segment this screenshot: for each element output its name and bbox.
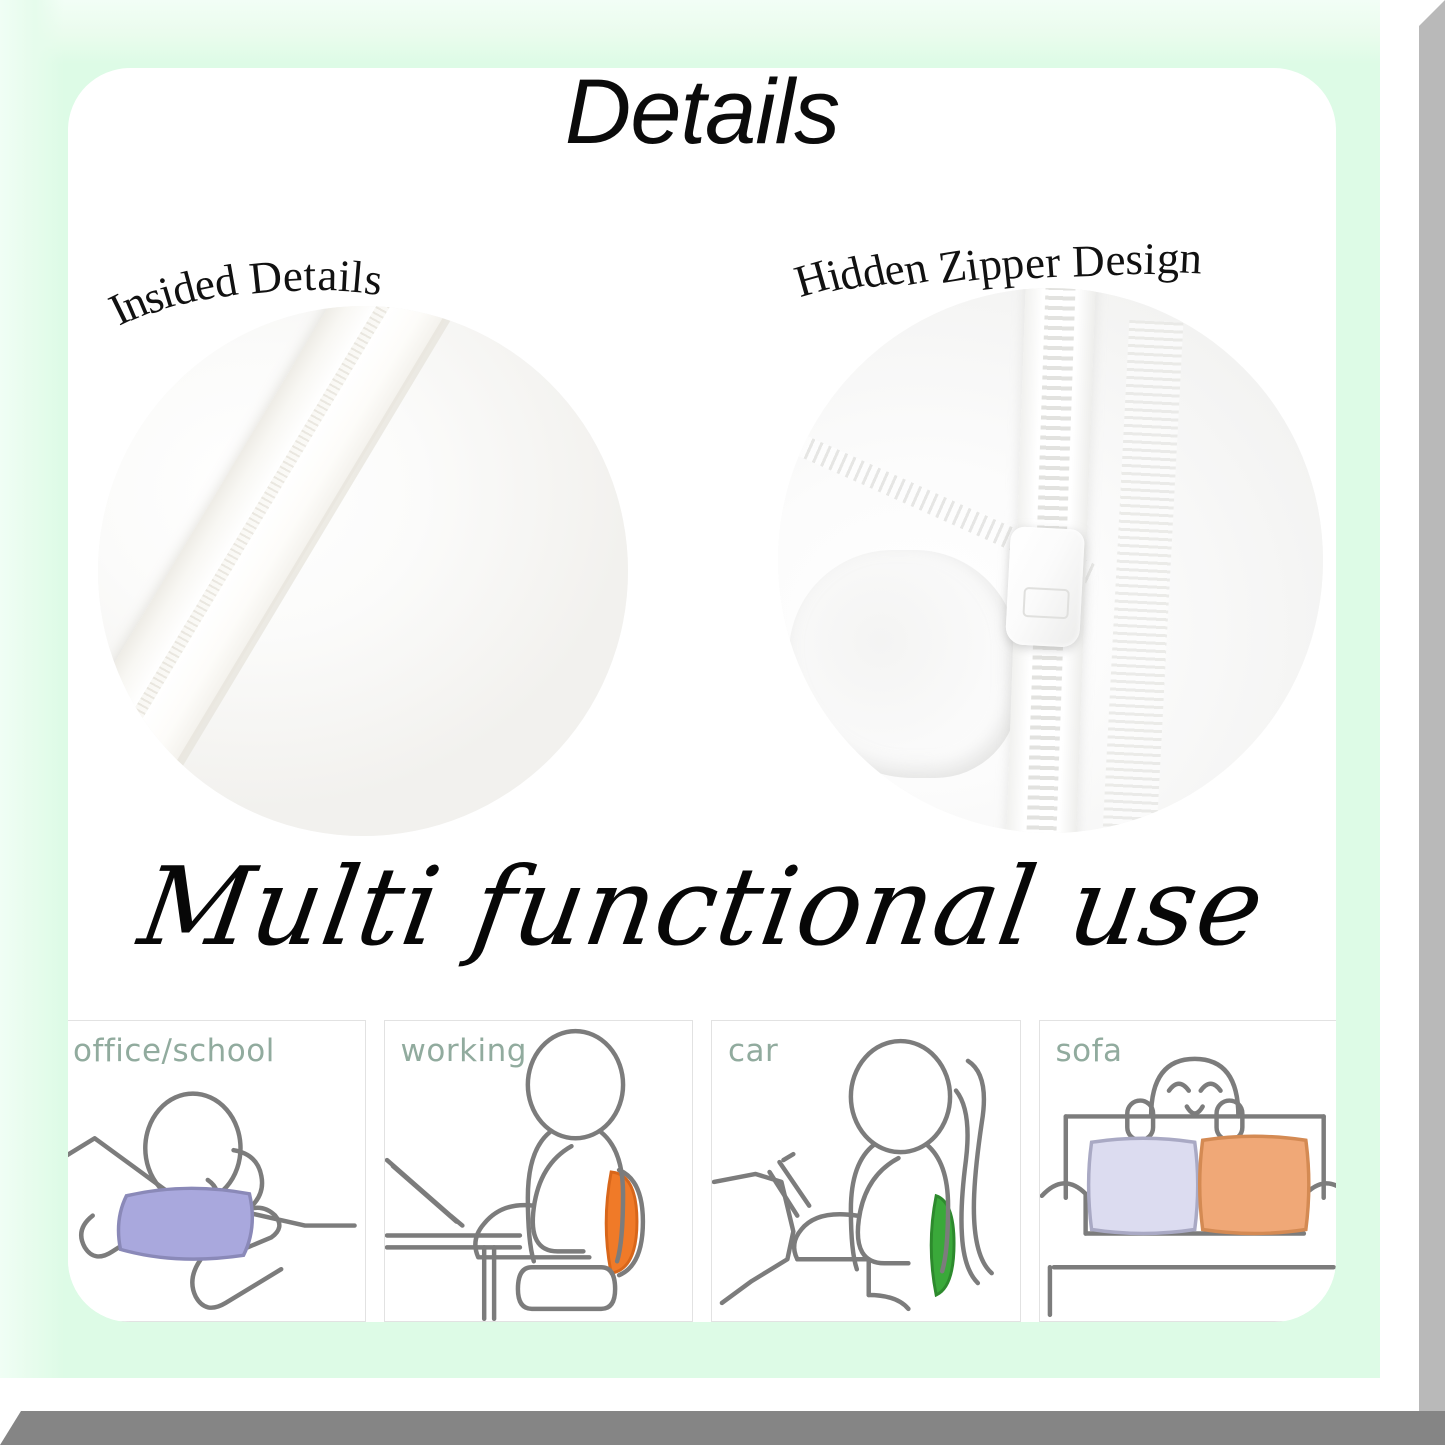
headline-multi-functional-use: Multi functional use bbox=[68, 854, 1336, 962]
usage-panels: office/school bbox=[68, 1020, 1336, 1322]
usage-label-car: car bbox=[728, 1033, 778, 1069]
usage-panel-office-school: office/school bbox=[68, 1020, 366, 1322]
usage-label-sofa: sofa bbox=[1056, 1033, 1123, 1069]
frame-edge-bottom bbox=[0, 1411, 1445, 1445]
page-title: Details bbox=[68, 68, 1336, 161]
usage-label-working: working bbox=[401, 1033, 527, 1069]
white-content-card: Details Insided Details Hidden Zipper De… bbox=[68, 68, 1336, 1322]
usage-panel-working: working bbox=[384, 1020, 694, 1322]
frame-edge-right bbox=[1419, 0, 1445, 1411]
usage-panel-sofa: sofa bbox=[1039, 1020, 1337, 1322]
zipper-pull-tab bbox=[1005, 526, 1085, 648]
usage-label-office-school: office/school bbox=[73, 1033, 275, 1069]
cushion-green bbox=[931, 1196, 954, 1295]
cushion-orange-light bbox=[1199, 1136, 1308, 1233]
photo-hidden-zipper bbox=[778, 288, 1323, 833]
caption-insided-details: Insided Details bbox=[108, 250, 379, 302]
caption-hidden-zipper-design: Hidden Zipper Design bbox=[798, 236, 1201, 288]
photo-inside-seam bbox=[98, 306, 628, 836]
cushion-purple bbox=[119, 1188, 253, 1259]
usage-panel-car: car bbox=[711, 1020, 1021, 1322]
product-detail-image: Details Insided Details Hidden Zipper De… bbox=[0, 0, 1445, 1445]
cushion-lavender bbox=[1088, 1138, 1197, 1233]
